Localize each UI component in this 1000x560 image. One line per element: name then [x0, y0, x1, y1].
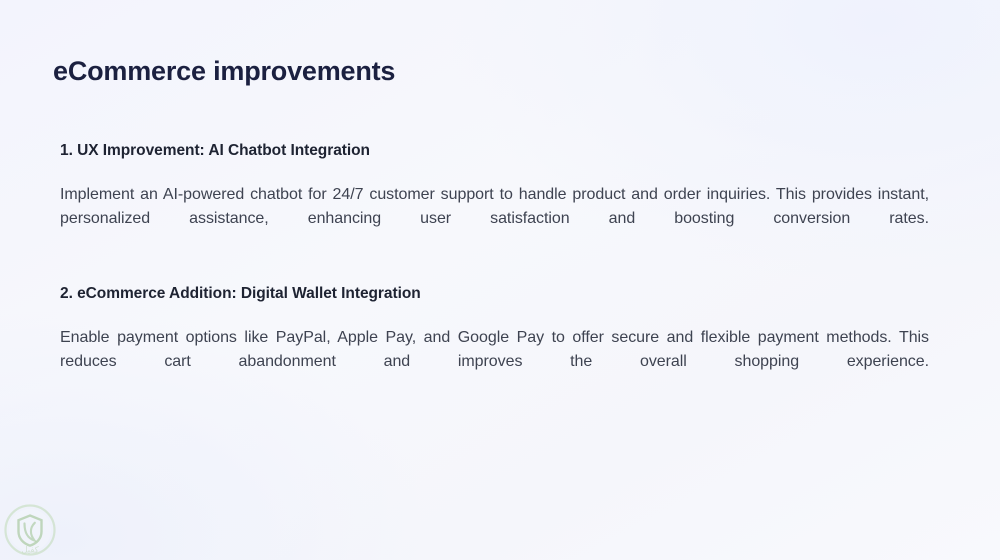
- section-1: 1. UX Improvement: AI Chatbot Integratio…: [60, 140, 929, 256]
- slide-content: 1. UX Improvement: AI Chatbot Integratio…: [60, 140, 929, 399]
- slide-canvas: eCommerce improvements 1. UX Improvement…: [0, 0, 1000, 560]
- section-1-body: Implement an AI-powered chatbot for 24/7…: [60, 183, 929, 256]
- watermark-script-text: كفيل: [21, 546, 39, 556]
- section-2-body: Enable payment options like PayPal, Appl…: [60, 326, 929, 399]
- shield-logo-watermark-icon: كفيل: [3, 503, 57, 557]
- page-title: eCommerce improvements: [53, 54, 395, 88]
- section-2: 2. eCommerce Addition: Digital Wallet In…: [60, 283, 929, 399]
- section-2-heading: 2. eCommerce Addition: Digital Wallet In…: [60, 283, 929, 305]
- section-1-heading: 1. UX Improvement: AI Chatbot Integratio…: [60, 140, 929, 162]
